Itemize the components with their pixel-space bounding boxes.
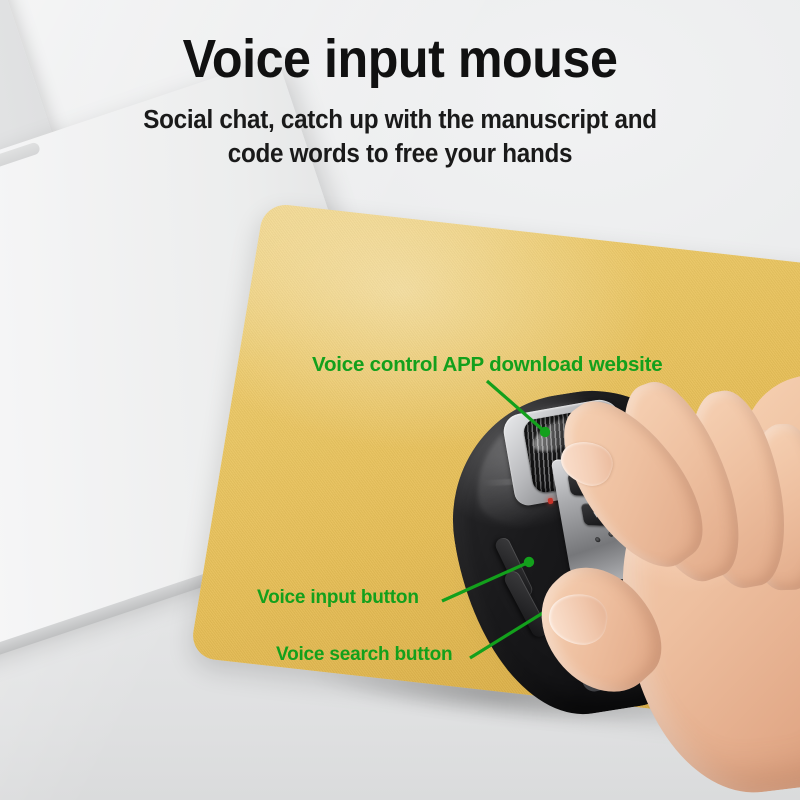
hand	[600, 368, 800, 800]
subheadline-line-2: code words to free your hands	[20, 140, 780, 169]
subheadline-line-1: Social chat, catch up with the manuscrip…	[20, 106, 780, 135]
thumbnail	[545, 589, 611, 648]
annotation-label-app: Voice control APP download website	[312, 353, 663, 377]
headline: Voice input mouse	[28, 28, 772, 90]
annotation-label-input: Voice input button	[257, 587, 419, 609]
red-led-indicator	[548, 498, 554, 505]
product-image: ⏻Backspace\}]EnterShift|▲PgUpEnd▶◀Home▼P…	[0, 0, 800, 800]
annotation-label-search: Voice search button	[276, 644, 452, 666]
